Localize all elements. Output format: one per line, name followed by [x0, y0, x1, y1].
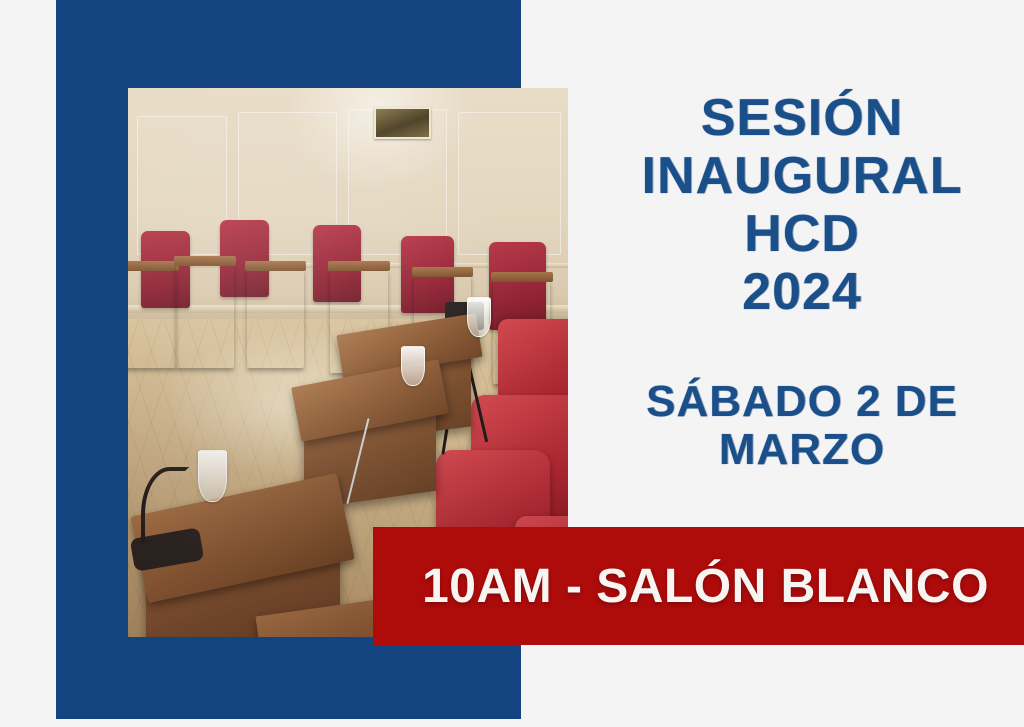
water-glass [467, 297, 491, 337]
background-desk-top [491, 272, 553, 282]
headline-line-2: INAUGURAL [592, 150, 1012, 202]
wall-panel [458, 112, 561, 256]
background-desk-top [412, 267, 474, 277]
time-location-banner: 10AM - SALÓN BLANCO [373, 527, 1024, 645]
headline-line-3: HCD [592, 208, 1012, 260]
date-line-1: SÁBADO 2 DE [592, 378, 1012, 426]
headline-block: SESIÓN INAUGURAL HCD 2024 [592, 92, 1012, 318]
water-glass [198, 450, 226, 501]
date-block: SÁBADO 2 DE MARZO [592, 378, 1012, 473]
background-desk-top [328, 261, 390, 271]
background-desk [247, 269, 304, 368]
date-line-2: MARZO [592, 426, 1012, 474]
background-desk [128, 269, 176, 368]
poster-canvas: SESIÓN INAUGURAL HCD 2024 SÁBADO 2 DE MA… [0, 0, 1024, 727]
background-desk-top [128, 261, 179, 271]
background-desk [176, 264, 233, 368]
time-location-text: 10AM - SALÓN BLANCO [408, 559, 989, 614]
water-glass [401, 346, 425, 386]
wall-plaque [374, 107, 431, 139]
background-desk-top [245, 261, 307, 271]
headline-line-4: 2024 [592, 266, 1012, 318]
background-desk-top [174, 256, 236, 266]
headline-line-1: SESIÓN [592, 92, 1012, 144]
